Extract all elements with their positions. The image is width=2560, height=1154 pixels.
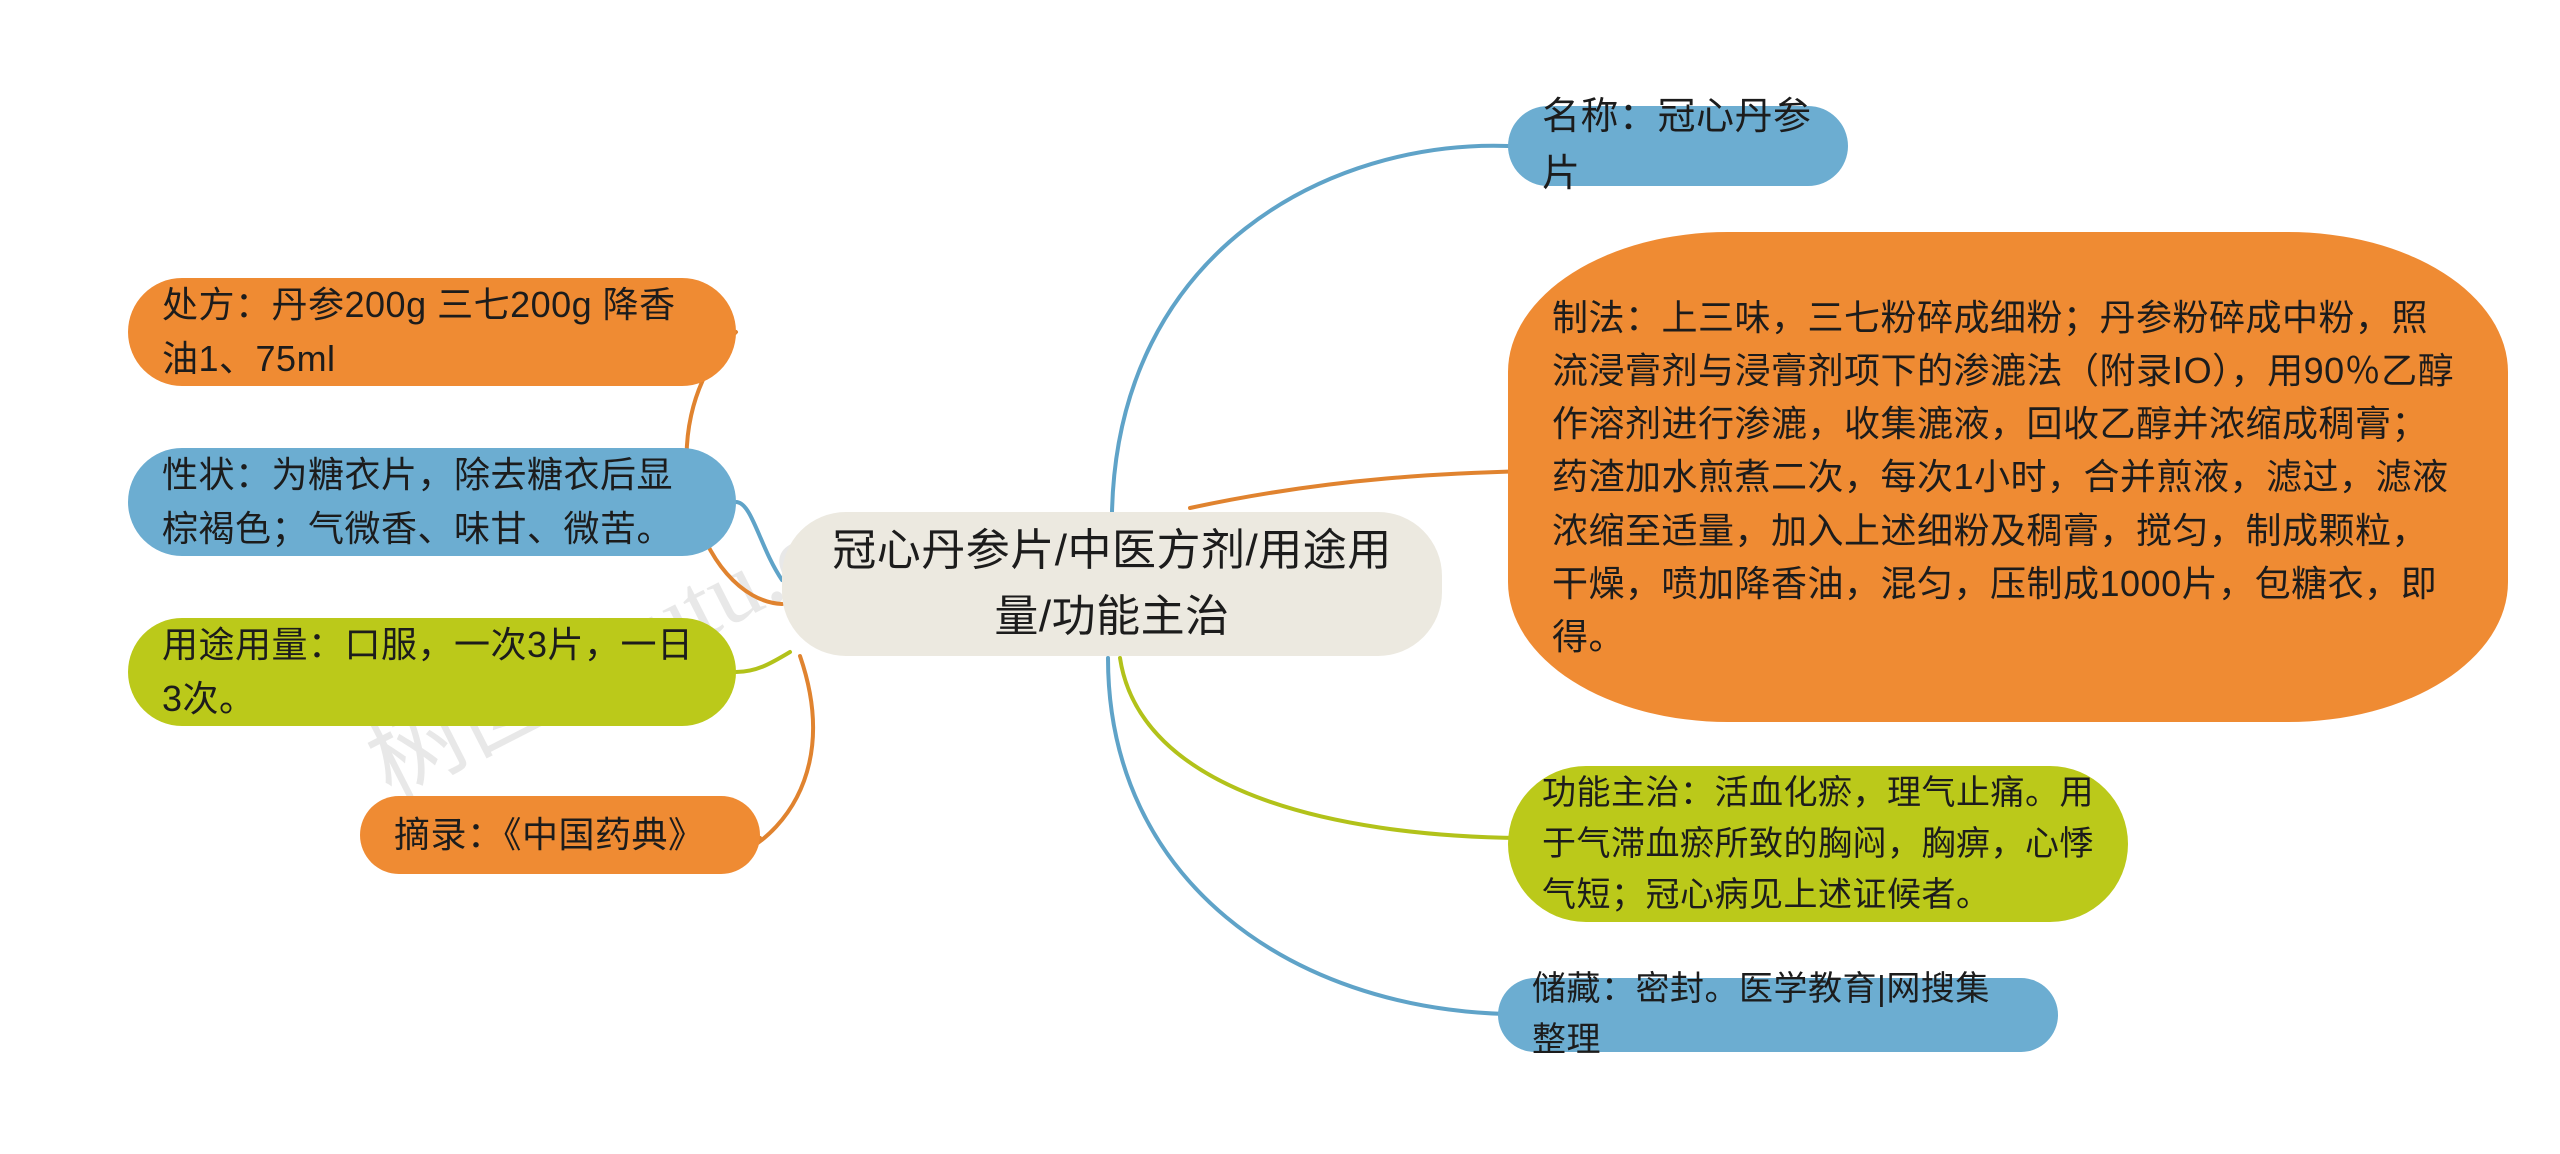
connector-root-to-dosage xyxy=(736,652,790,672)
node-dosage-label: 用途用量：口服，一次3片，一日3次。 xyxy=(162,618,702,726)
mindmap-canvas: 树图 shutu.cn 树图 shutu.cn 处方：丹参200g 三七200g… xyxy=(0,0,2560,1154)
node-method-label: 制法：上三味，三七粉碎成细粉；丹参粉碎成中粉，照流浸膏剂与浸膏剂项下的渗漉法（附… xyxy=(1552,291,2464,664)
node-dosage[interactable]: 用途用量：口服，一次3片，一日3次。 xyxy=(128,618,736,726)
node-method[interactable]: 制法：上三味，三七粉碎成细粉；丹参粉碎成中粉，照流浸膏剂与浸膏剂项下的渗漉法（附… xyxy=(1508,232,2508,722)
node-indications[interactable]: 功能主治：活血化瘀，理气止痛。用于气滞血瘀所致的胸闷，胸痹，心悸气短；冠心病见上… xyxy=(1508,766,2128,922)
node-properties-label: 性状：为糖衣片，除去糖衣后显棕褐色；气微香、味甘、微苦。 xyxy=(162,448,702,556)
connector-root-to-name xyxy=(1112,146,1508,512)
node-prescription[interactable]: 处方：丹参200g 三七200g 降香油1、75ml xyxy=(128,278,736,386)
node-storage[interactable]: 储藏：密封。医学教育|网搜集整理 xyxy=(1498,978,2058,1052)
node-storage-label: 储藏：密封。医学教育|网搜集整理 xyxy=(1532,964,2024,1066)
connector-root-to-indications xyxy=(1120,658,1520,838)
node-name-label: 名称：冠心丹参片 xyxy=(1542,89,1814,203)
connector-root-to-storage xyxy=(1108,658,1506,1014)
node-properties[interactable]: 性状：为糖衣片，除去糖衣后显棕褐色；气微香、味甘、微苦。 xyxy=(128,448,736,556)
node-root[interactable]: 冠心丹参片/中医方剂/用途用量/功能主治 xyxy=(782,512,1442,656)
node-source-label: 摘录：《中国药典》 xyxy=(394,808,726,862)
node-source[interactable]: 摘录：《中国药典》 xyxy=(360,796,760,874)
connector-root-to-properties xyxy=(736,502,782,580)
node-prescription-label: 处方：丹参200g 三七200g 降香油1、75ml xyxy=(162,278,702,386)
node-indications-label: 功能主治：活血化瘀，理气止痛。用于气滞血瘀所致的胸闷，胸痹，心悸气短；冠心病见上… xyxy=(1542,768,2094,921)
node-name[interactable]: 名称：冠心丹参片 xyxy=(1508,106,1848,186)
node-root-label: 冠心丹参片/中医方剂/用途用量/功能主治 xyxy=(826,518,1398,650)
